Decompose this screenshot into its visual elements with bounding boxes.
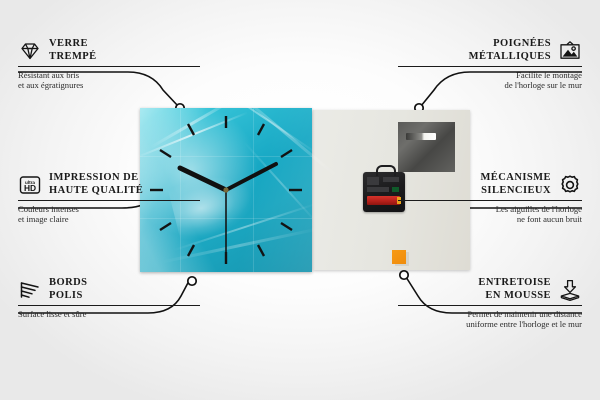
diamond-icon <box>18 39 42 63</box>
callout-title-line2: EN MOUSSE <box>478 290 551 303</box>
callout-mecanisme-silencieux: MÉCANISME SILENCIEUX Les aiguilles de l'… <box>398 172 582 225</box>
infographic-canvas: VERRE TREMPÉ Résistant aux bris et aux é… <box>0 0 600 400</box>
callout-title-line2: POLIS <box>49 290 87 303</box>
hands-hub <box>223 187 228 192</box>
callout-sub-line1: Les aiguilles de l'horloge <box>398 204 582 214</box>
tick-10 <box>160 150 171 157</box>
hanger-slot <box>406 133 436 140</box>
callout-verre-trempe: VERRE TREMPÉ Résistant aux bris et aux é… <box>18 38 200 91</box>
tick-11 <box>188 124 194 135</box>
tick-1 <box>258 124 264 135</box>
callout-sub-line1: Facilite le montage <box>398 70 582 80</box>
callout-title-line2: TREMPÉ <box>49 51 97 64</box>
callout-rule <box>398 305 582 306</box>
callout-rule <box>398 66 582 67</box>
callout-bords-polis: BORDS POLIS Surface lisse et sûre <box>18 277 200 319</box>
callout-title-line1: VERRE <box>49 38 97 51</box>
mechanism-detail <box>367 177 379 185</box>
callout-subtitle: Surface lisse et sûre <box>18 309 200 319</box>
callout-header: MÉCANISME SILENCIEUX <box>398 172 582 197</box>
hd-icon-large-text: HD <box>24 183 36 193</box>
callout-title-line1: MÉCANISME <box>480 172 551 185</box>
callout-subtitle: Permet de maintenir une distance uniform… <box>398 309 582 330</box>
mechanism-detail <box>367 187 389 192</box>
callout-header: BORDS POLIS <box>18 277 200 302</box>
callout-title-line2: HAUTE QUALITÉ <box>49 185 143 198</box>
tick-7 <box>188 245 194 256</box>
callout-sub-line2: uniforme entre l'horloge et le mur <box>398 319 582 329</box>
callout-subtitle: Facilite le montage de l'horloge sur le … <box>398 70 582 91</box>
tick-2 <box>281 150 292 157</box>
callout-sub-line1: Surface lisse et sûre <box>18 309 200 319</box>
callout-title: VERRE TREMPÉ <box>49 38 97 63</box>
callout-header: ENTRETOISE EN MOUSSE <box>398 277 582 302</box>
polished-edge-lines-icon <box>18 278 42 302</box>
gear-icon <box>558 173 582 197</box>
callout-title-line1: BORDS <box>49 277 87 290</box>
callout-title-line2: SILENCIEUX <box>480 185 551 198</box>
callout-title: MÉCANISME SILENCIEUX <box>480 172 551 197</box>
callout-rule <box>18 200 200 201</box>
callout-sub-line1: Couleurs intenses <box>18 204 200 214</box>
callout-header: POIGNÉES MÉTALLIQUES <box>398 38 582 63</box>
callout-poignees-metalliques: POIGNÉES MÉTALLIQUES Facilite le montage… <box>398 38 582 91</box>
foam-spacer <box>392 250 406 264</box>
tick-4 <box>281 223 292 230</box>
tick-5 <box>258 245 264 256</box>
callout-header: VERRE TREMPÉ <box>18 38 200 63</box>
callout-sub-line2: de l'horloge sur le mur <box>398 80 582 90</box>
callout-title: POIGNÉES MÉTALLIQUES <box>469 38 551 63</box>
callout-subtitle: Couleurs intenses et image claire <box>18 204 200 225</box>
mechanism-hook <box>376 165 396 176</box>
callout-entretoise-en-mousse: ENTRETOISE EN MOUSSE Permet de maintenir… <box>398 277 582 330</box>
mechanism-detail <box>383 177 399 182</box>
callout-sub-line2: et aux égratignures <box>18 80 200 90</box>
callout-rule <box>18 305 200 306</box>
callout-title-line2: MÉTALLIQUES <box>469 51 551 64</box>
callout-subtitle: Résistant aux bris et aux égratignures <box>18 70 200 91</box>
ultra-hd-icon: ultra HD <box>18 173 42 197</box>
callout-sub-line1: Permet de maintenir une distance <box>398 309 582 319</box>
callout-title-line1: POIGNÉES <box>469 38 551 51</box>
callout-rule <box>18 66 200 67</box>
callout-sub-line2: ne font aucun bruit <box>398 214 582 224</box>
framed-picture-hook-icon <box>558 39 582 63</box>
arrow-down-pad-icon <box>558 278 582 302</box>
callout-sub-line1: Résistant aux bris <box>18 70 200 80</box>
callout-title-line1: ENTRETOISE <box>478 277 551 290</box>
callout-title: IMPRESSION DE HAUTE QUALITÉ <box>49 172 143 197</box>
callout-title: ENTRETOISE EN MOUSSE <box>478 277 551 302</box>
minute-hand <box>226 164 276 190</box>
clock-battery <box>367 196 400 205</box>
callout-title: BORDS POLIS <box>49 277 87 302</box>
callout-subtitle: Les aiguilles de l'horloge ne font aucun… <box>398 204 582 225</box>
callout-header: ultra HD IMPRESSION DE HAUTE QUALITÉ <box>18 172 200 197</box>
callout-rule <box>398 200 582 201</box>
callout-impression: ultra HD IMPRESSION DE HAUTE QUALITÉ Cou… <box>18 172 200 225</box>
metal-hanger-plate <box>398 122 455 172</box>
callout-sub-line2: et image claire <box>18 214 200 224</box>
callout-title-line1: IMPRESSION DE <box>49 172 143 185</box>
